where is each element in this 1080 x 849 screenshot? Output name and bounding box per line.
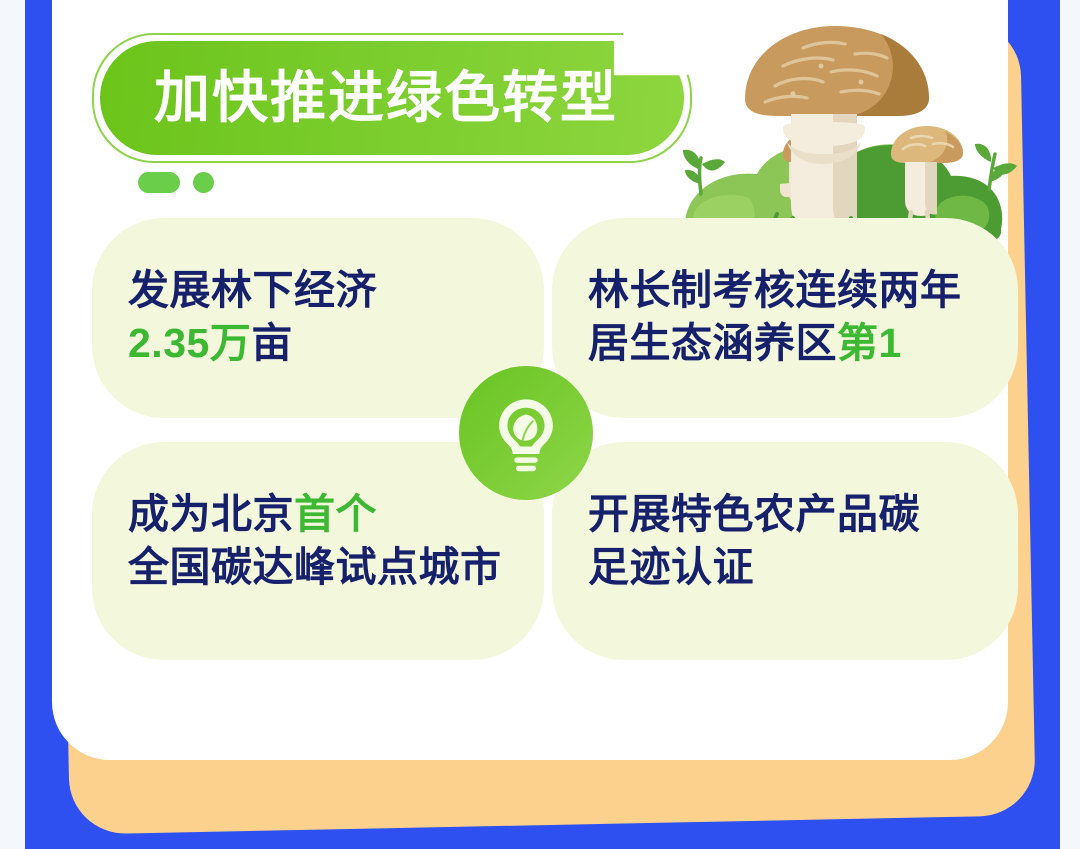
center-badge [459,366,593,500]
lightbulb-leaf-icon [484,391,568,475]
stat-line: 2.35万亩 [128,317,544,370]
text-segment: 发展林下经济 [128,267,377,313]
text-segment: 居生态涵养区 [588,320,837,366]
stat-card-text: 开展特色农产品碳 足迹认证 [588,488,1018,595]
highlight-value: 首个 [294,491,377,537]
stat-line: 居生态涵养区第1 [588,317,1018,370]
stat-card-carbon-footprint-certification: 开展特色农产品碳 足迹认证 [552,442,1018,660]
stat-line: 全国碳达峰试点城市 [128,541,544,594]
text-segment: 全国碳达峰试点城市 [128,544,502,590]
stat-line: 林长制考核连续两年 [588,264,1018,317]
text-segment: 开展特色农产品碳 [588,491,920,537]
text-segment: 成为北京 [128,491,294,537]
stat-card-text: 发展林下经济 2.35万亩 [128,264,544,371]
text-segment: 林长制考核连续两年 [588,267,962,313]
stat-card-text: 成为北京首个 全国碳达峰试点城市 [128,488,544,595]
stat-line: 开展特色农产品碳 [588,488,1018,541]
stat-card-text: 林长制考核连续两年 居生态涵养区第1 [588,264,1018,371]
highlight-value: 2.35万 [128,320,251,366]
page-indicator-active[interactable] [138,172,180,193]
stat-line: 足迹认证 [588,541,1018,594]
stat-card-forest-chief-ranking: 林长制考核连续两年 居生态涵养区第1 [552,218,1018,418]
stat-line: 成为北京首个 [128,488,544,541]
highlight-value: 第1 [837,320,902,366]
stat-line: 发展林下经济 [128,264,544,317]
title-banner-fill: 加快推进绿色转型 [100,41,684,155]
infographic-stage: 加快推进绿色转型 [0,0,1080,849]
text-segment: 足迹认证 [588,544,754,590]
pagination-indicator [138,172,214,193]
page-indicator-inactive[interactable] [193,172,214,193]
title-banner: 加快推进绿色转型 [92,33,692,163]
text-segment: 亩 [251,320,293,366]
page-title: 加快推进绿色转型 [154,70,618,126]
